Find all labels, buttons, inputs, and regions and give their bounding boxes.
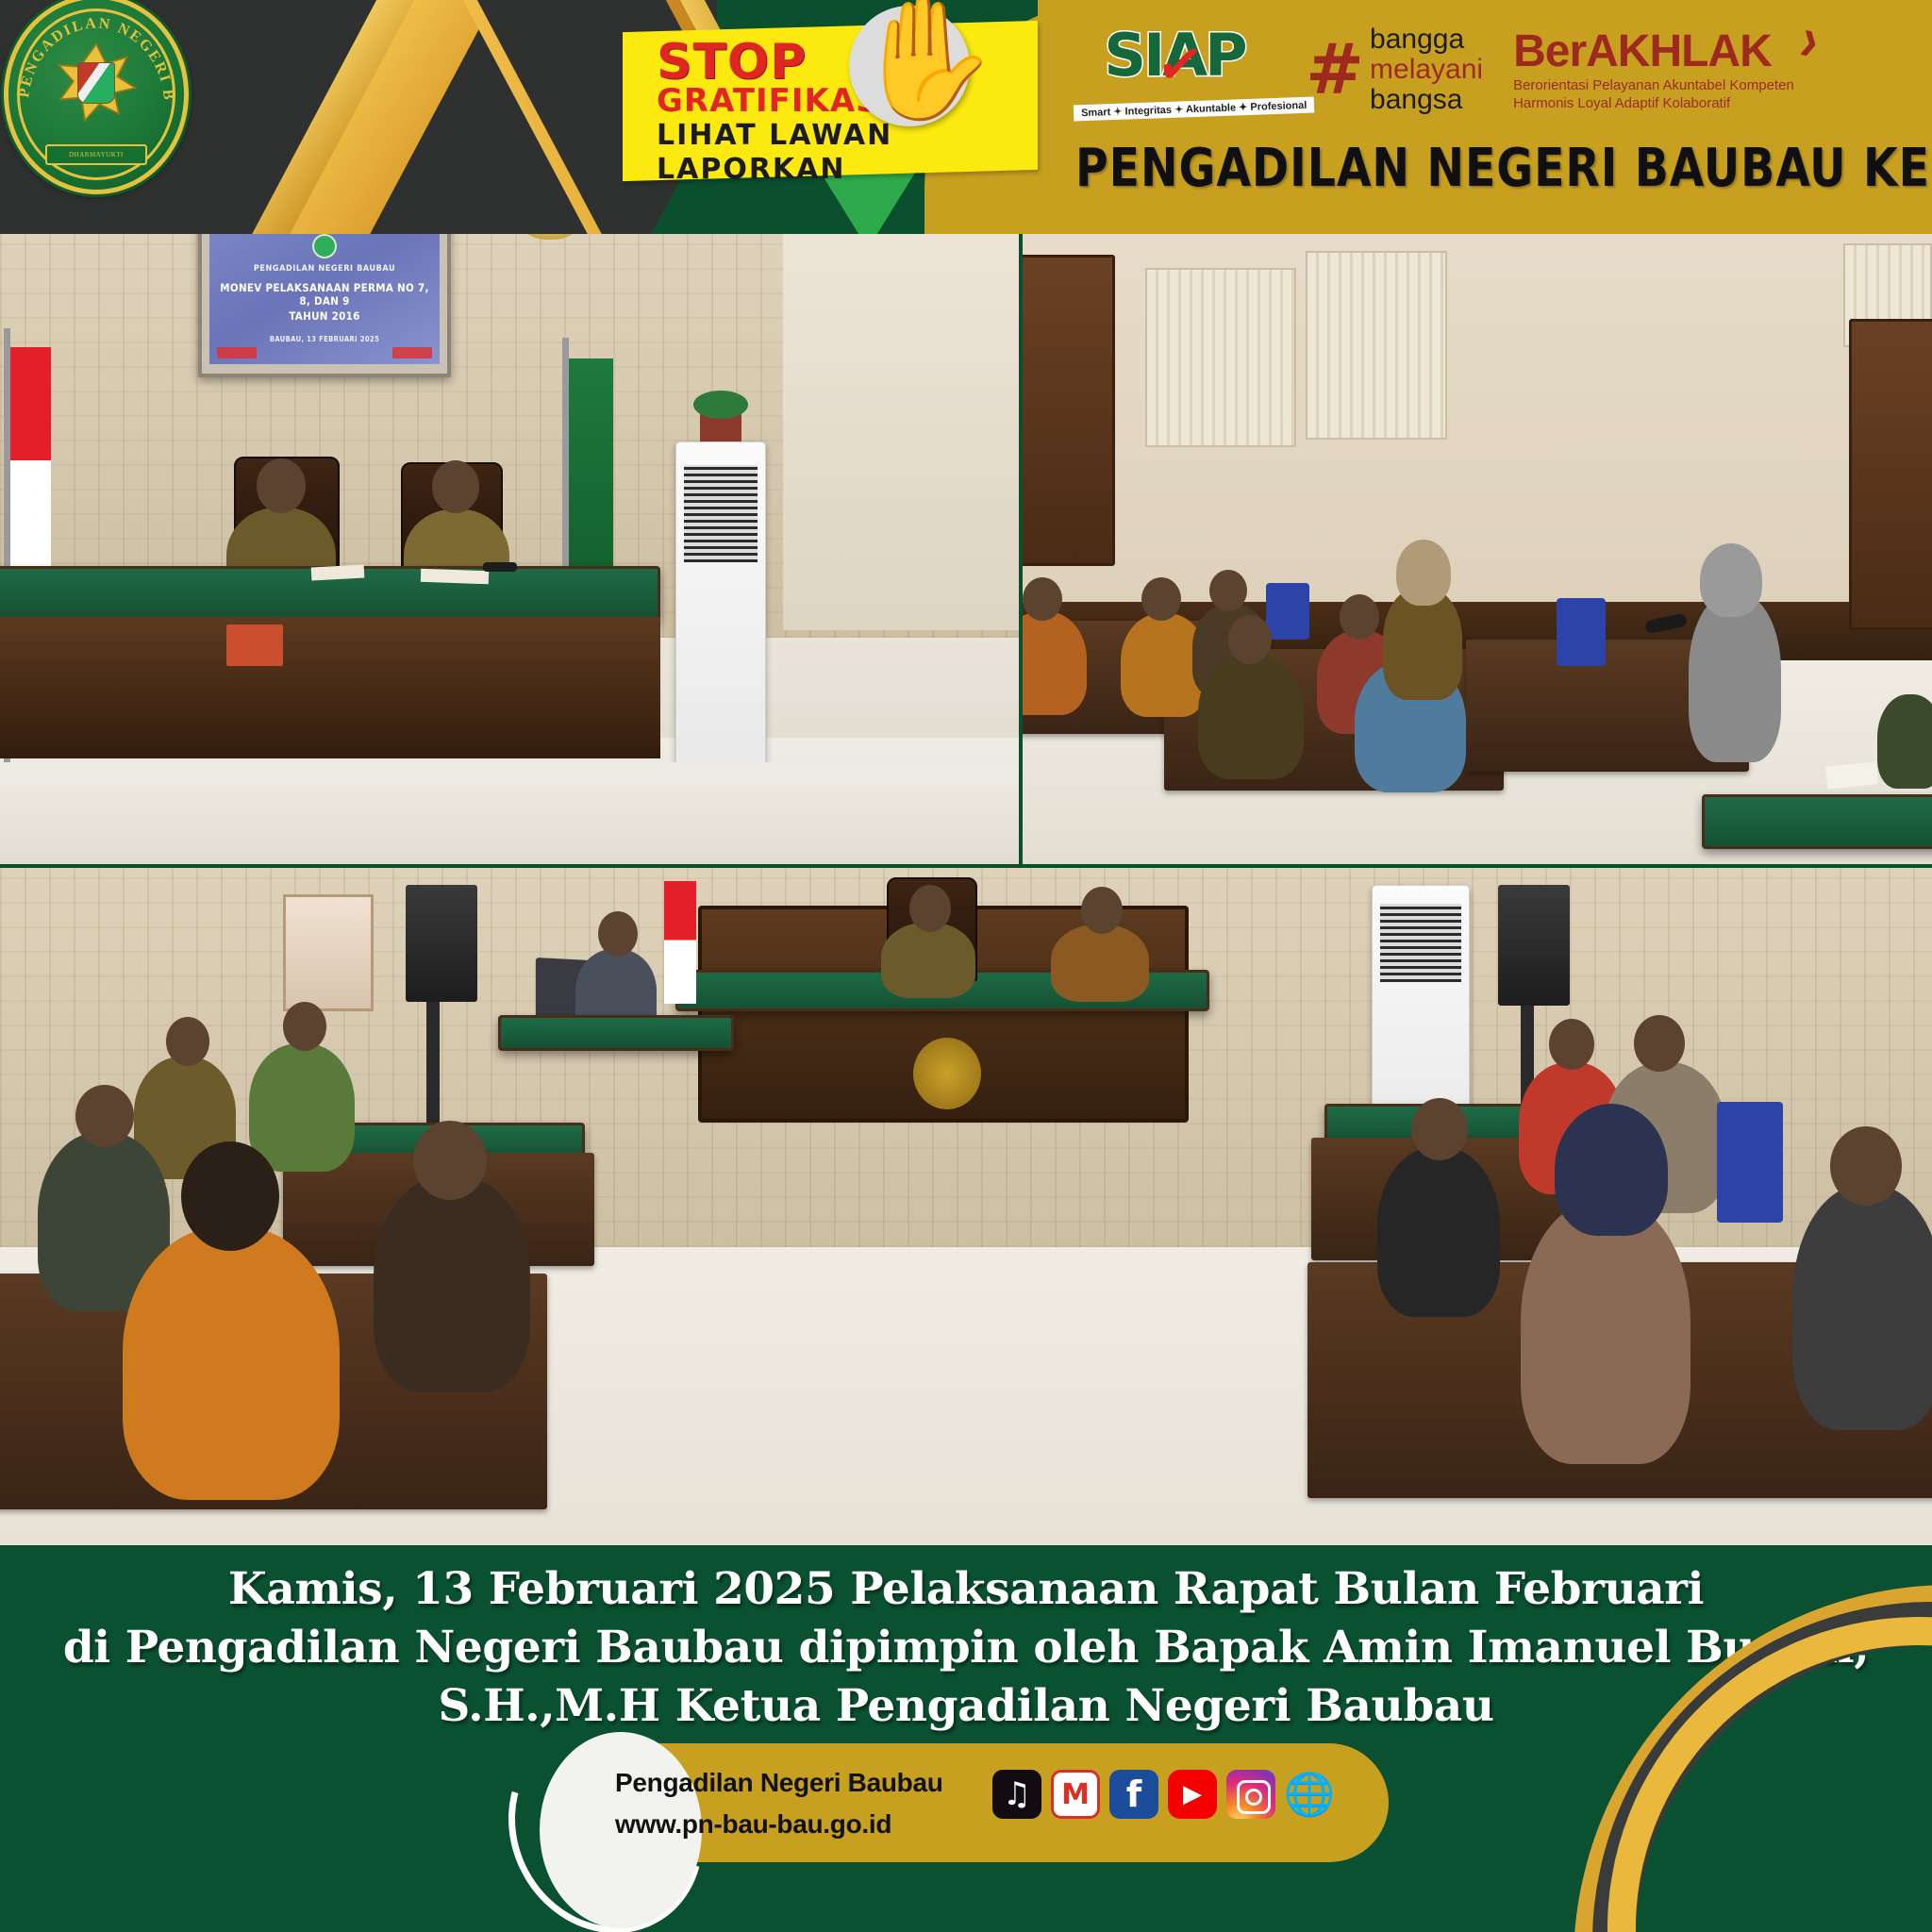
bangga-line-1: bangga <box>1370 25 1483 55</box>
slide-org-name: PENGADILAN NEGERI BAUBAU <box>209 264 440 274</box>
website-icon[interactable]: 🌐 <box>1285 1770 1334 1819</box>
desk-front-panel <box>0 617 660 758</box>
speaker-left <box>406 885 477 1002</box>
siap-logo: SIAP ✓ Smart ✦ Integritas ✦ Akuntable ✦ … <box>1066 23 1283 117</box>
front-person-right-hijab <box>1521 1200 1690 1464</box>
attendee-4-head <box>1228 615 1272 664</box>
front-person-left-3-head <box>413 1121 487 1200</box>
wall-poster <box>283 894 374 1011</box>
gmail-icon[interactable]: M <box>1051 1770 1100 1819</box>
front-person-right-1 <box>1377 1147 1500 1317</box>
caption-line-3: S.H.,M.H Ketua Pengadilan Negeri Baubau <box>38 1677 1894 1736</box>
berakhlak-chevron-icon: › <box>1795 2 1826 77</box>
microphone-base <box>483 562 517 572</box>
berakhlak-sub-1: Berorientasi Pelayanan Akuntabel Kompete… <box>1513 77 1794 93</box>
ac-vent-grille <box>684 465 758 562</box>
lihat-lawan-laporkan-label: LIHAT LAWAN LAPORKAN <box>657 119 1038 187</box>
youtube-icon[interactable]: ▶ <box>1168 1770 1217 1819</box>
instagram-icon[interactable] <box>1226 1770 1275 1819</box>
blue-chair-1 <box>1266 583 1309 640</box>
social-media-links: ♫ M f ▶ 🌐 <box>992 1770 1334 1819</box>
standing-speaker-hijab <box>1396 540 1451 606</box>
person-head-left <box>257 458 306 513</box>
seal-shield-emblem <box>77 62 115 104</box>
person-head-right <box>432 460 479 513</box>
caption-line-1: Kamis, 13 Februari 2025 Pelaksanaan Rapa… <box>38 1560 1894 1619</box>
slide-title: MONEV PELAKSANAAN PERMA NO 7, 8, DAN 9 <box>215 281 434 308</box>
attendee-4 <box>1198 655 1304 779</box>
front-person-right-hijab-head <box>1555 1104 1668 1236</box>
woman-hijab <box>1700 543 1762 617</box>
front-person-orange-head <box>181 1141 279 1251</box>
plant-foliage <box>693 391 748 419</box>
projector-screen: PENGADILAN NEGERI BAUBAU MONEV PELAKSANA… <box>198 234 451 377</box>
photo-top-right <box>1023 234 1932 864</box>
attendee-5-head <box>1340 594 1379 640</box>
attendee-1-head <box>1023 577 1062 621</box>
bangga-melayani-bangsa-logo: # bangga melayani bangsa <box>1306 25 1483 115</box>
photo-collage: PENGADILAN NEGERI BAUBAU MONEV PELAKSANA… <box>0 234 1932 1545</box>
photo-top-left: PENGADILAN NEGERI BAUBAU MONEV PELAKSANA… <box>0 234 1019 864</box>
right-wall <box>783 234 1019 630</box>
right-attendee-batik-head <box>1634 1015 1685 1072</box>
bottom-chair-person-1-head <box>909 885 951 932</box>
siap-check-icon: ✓ <box>1152 29 1208 101</box>
footer-text-block: Pengadilan Negeri Baubau www.pn-bau-bau.… <box>615 1762 943 1845</box>
slide-logo-icon <box>312 234 337 258</box>
siap-tagline: Smart ✦ Integritas ✦ Akuntable ✦ Profesi… <box>1074 97 1315 122</box>
left-attendee-1-head <box>166 1017 209 1066</box>
slide-subtitle: TAHUN 2016 <box>215 309 434 323</box>
poster-root: PENGADILAN NEGERI BAU-BAU DHARMAYUKTI ST… <box>0 0 1932 1932</box>
berakhlak-sub-2: Harmonis Loyal Adaptif Kolaboratif <box>1513 95 1794 111</box>
front-person-right-1-head <box>1411 1098 1468 1160</box>
papers-right <box>421 569 489 585</box>
attendee-2-head <box>1141 577 1181 621</box>
footer-org-name: Pengadilan Negeri Baubau <box>615 1762 943 1804</box>
caption-text-block: Kamis, 13 Februari 2025 Pelaksanaan Rapa… <box>38 1560 1894 1736</box>
projector-slide: PENGADILAN NEGERI BAUBAU MONEV PELAKSANA… <box>209 234 440 364</box>
seal-ribbon: DHARMAYUKTI <box>45 144 147 165</box>
bottom-indonesian-flag <box>664 881 696 1004</box>
green-table-foreground <box>1702 794 1932 849</box>
bangga-line-3: bangsa <box>1370 85 1483 115</box>
bangga-text-block: bangga melayani bangsa <box>1370 25 1483 115</box>
wooden-cabinet-right <box>1849 319 1932 630</box>
speaker-right <box>1498 885 1570 1006</box>
blue-chair-2 <box>1557 598 1606 666</box>
attendee-far-right <box>1877 694 1932 789</box>
bottom-chair-person-2-head <box>1081 887 1123 934</box>
bangga-line-2: melayani <box>1370 55 1483 85</box>
left-attendee-2 <box>249 1043 355 1172</box>
photo-bottom-wide <box>0 868 1932 1545</box>
caption-line-2: di Pengadilan Negeri Baubau dipimpin ole… <box>38 1619 1894 1677</box>
footer-website[interactable]: www.pn-bau-bau.go.id <box>615 1804 943 1845</box>
operator-head <box>598 911 638 957</box>
attendee-3-head <box>1209 570 1247 611</box>
front-person-right-3 <box>1792 1185 1932 1430</box>
berakhlak-wordmark: BerAKHLAK <box>1513 28 1794 75</box>
seal-motto-text: DHARMAYUKTI <box>47 146 145 163</box>
facebook-icon[interactable]: f <box>1109 1770 1158 1819</box>
front-person-orange <box>123 1226 340 1500</box>
front-person-right-3-head <box>1830 1126 1902 1206</box>
papers-left <box>311 565 365 581</box>
front-person-left-1-head <box>75 1085 134 1147</box>
wooden-door-left <box>1023 255 1115 566</box>
header-logo-row: SIAP ✓ Smart ✦ Integritas ✦ Akuntable ✦ … <box>1066 13 1915 126</box>
desk-photo-frame <box>226 625 283 666</box>
window-blinds-left <box>1145 268 1296 447</box>
floor-foreground <box>0 762 1019 864</box>
court-emblem-on-bench <box>913 1038 981 1109</box>
operator-desk <box>498 1015 734 1051</box>
slide-badge-left <box>217 347 257 358</box>
right-blue-chair <box>1717 1102 1783 1223</box>
hashtag-icon: # <box>1306 35 1364 105</box>
slide-footer: BAUBAU, 13 FEBRUARI 2025 <box>209 335 440 343</box>
stop-hand-icon: ✋ <box>851 0 1001 119</box>
woman-with-mic <box>1689 592 1781 762</box>
indonesian-flag <box>9 347 51 583</box>
bottom-ac-vent <box>1380 904 1461 982</box>
front-person-left-3 <box>374 1175 530 1392</box>
page-title: PENGADILAN NEGERI BAUBAU KELAS 1B <box>1075 142 1881 196</box>
bottom-chair-person-2 <box>1051 924 1149 1002</box>
court-flag <box>566 358 613 575</box>
poster-header: PENGADILAN NEGERI BAU-BAU DHARMAYUKTI ST… <box>0 0 1932 234</box>
court-seal-logo: PENGADILAN NEGERI BAU-BAU DHARMAYUKTI <box>4 0 189 194</box>
window-blinds-right <box>1306 251 1447 440</box>
caption-bar: Kamis, 13 Februari 2025 Pelaksanaan Rapa… <box>0 1545 1932 1932</box>
berakhlak-logo: BerAKHLAK Berorientasi Pelayanan Akuntab… <box>1506 28 1794 111</box>
left-attendee-2-head <box>283 1002 326 1051</box>
right-attendee-red-head <box>1549 1019 1594 1070</box>
tiktok-icon[interactable]: ♫ <box>992 1770 1041 1819</box>
bottom-chair-person-1 <box>881 923 975 998</box>
slide-badge-right <box>392 347 432 358</box>
